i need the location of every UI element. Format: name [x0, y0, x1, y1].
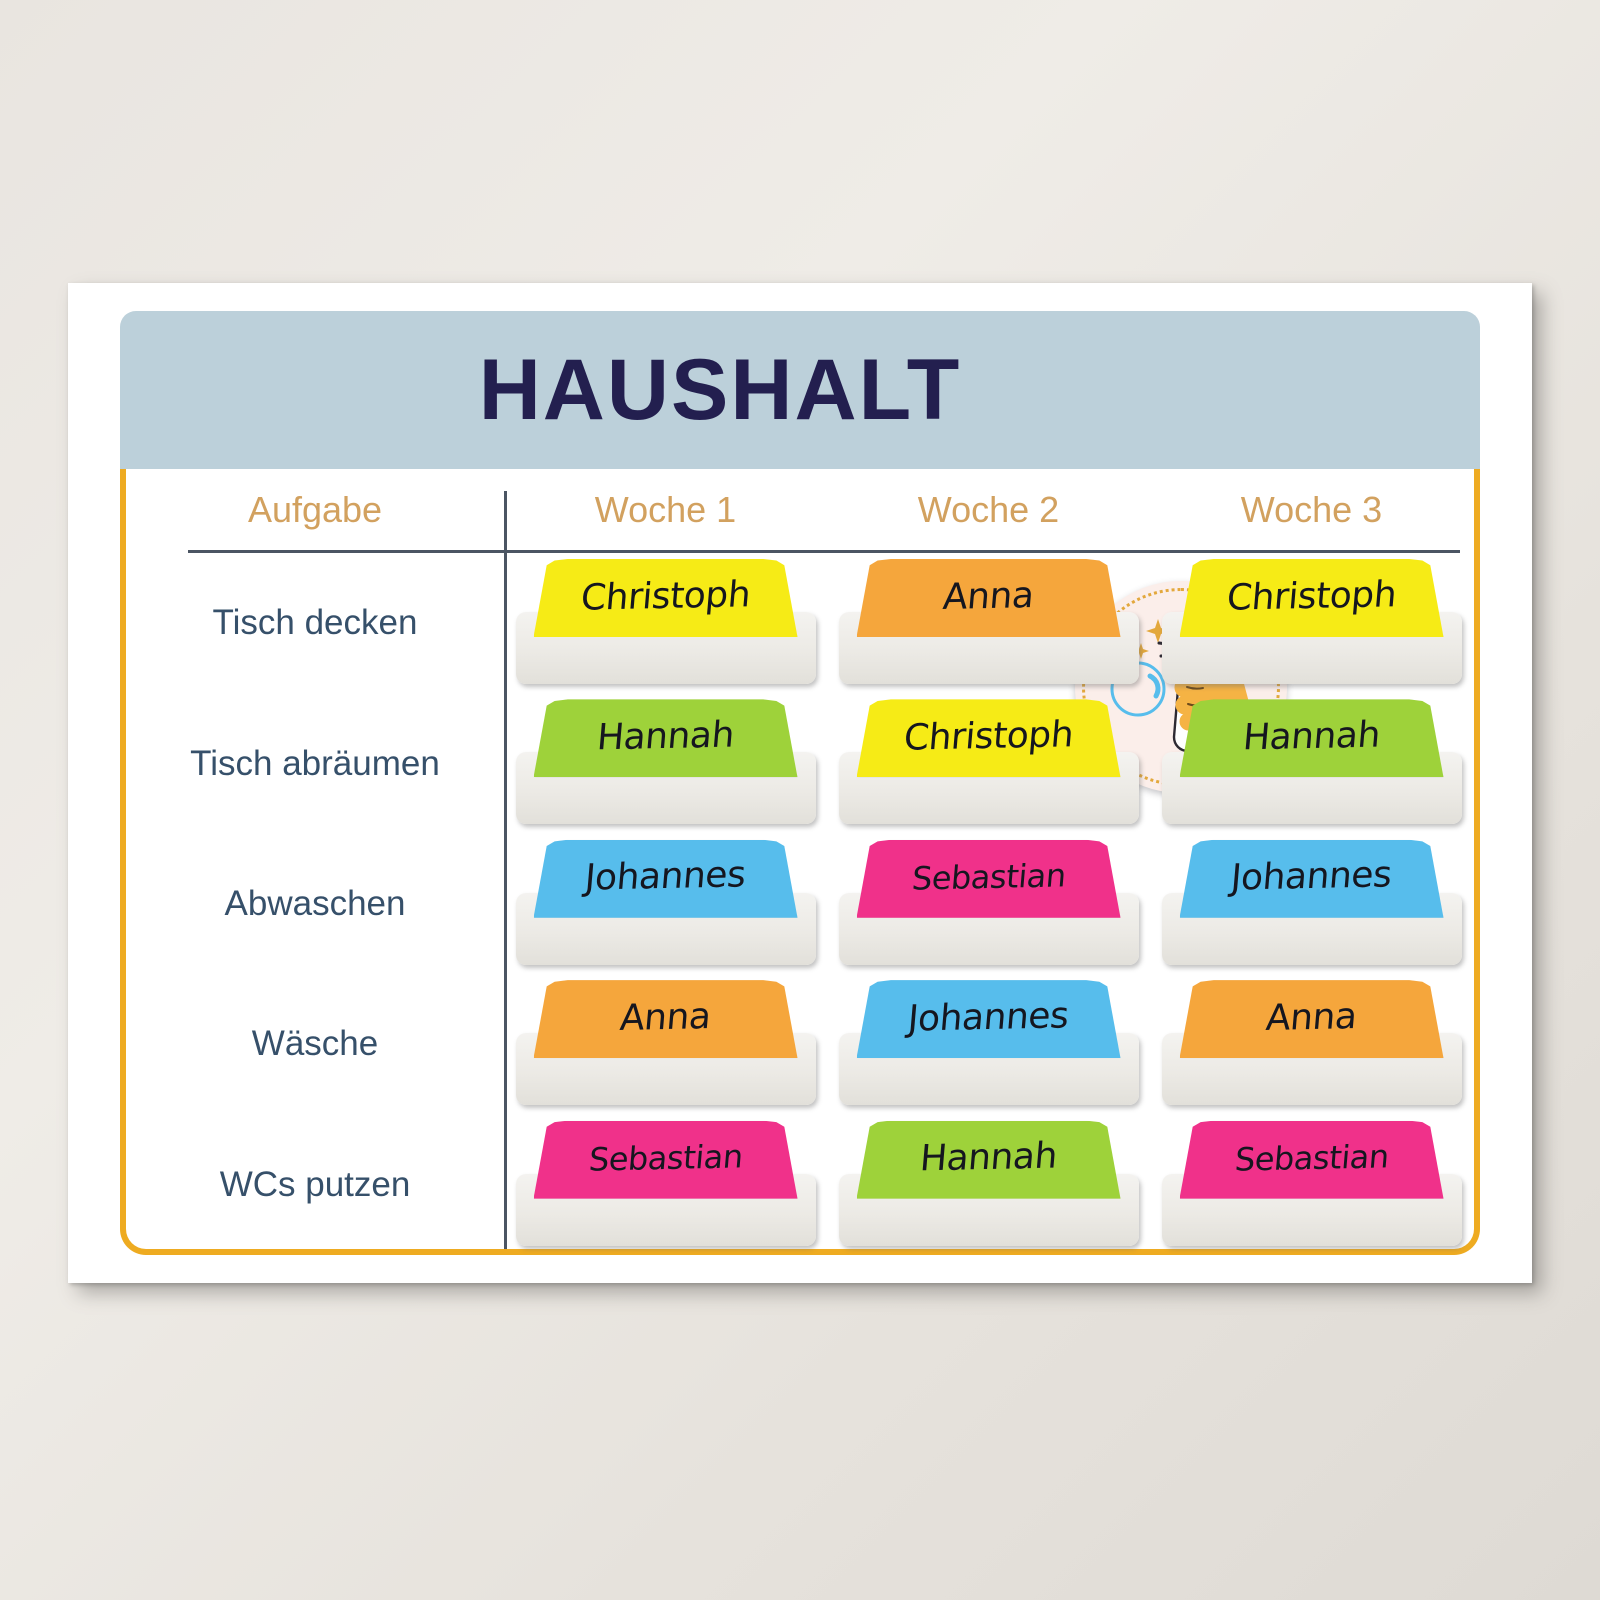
tag-color-strip: Anna: [1180, 980, 1444, 1058]
tag-color-strip: Johannes: [1180, 840, 1444, 918]
name-tag: Christoph: [839, 699, 1139, 827]
tag-cell[interactable]: Hannah: [827, 1115, 1150, 1255]
tag-name-text: Sebastian: [1233, 1137, 1390, 1182]
name-tag: Johannes: [1162, 840, 1462, 968]
tag-name-text: Anna: [941, 575, 1035, 622]
tag-name-text: Johannes: [1229, 855, 1393, 903]
tag-name-text: Johannes: [906, 995, 1070, 1043]
column-header-woche-3: Woche 3: [1150, 469, 1473, 550]
column-header-aufgabe: Aufgabe: [126, 469, 504, 550]
tag-color-strip: Christoph: [534, 559, 798, 637]
table-row: WCs putzen Sebastian Hannah: [126, 1115, 1474, 1255]
tag-cell[interactable]: Christoph: [827, 693, 1150, 833]
tag-name-text: Christoph: [579, 574, 752, 623]
tag-color-strip: Hannah: [857, 1121, 1121, 1199]
tag-color-strip: Sebastian: [857, 840, 1121, 918]
tag-name-text: Sebastian: [910, 856, 1067, 901]
tag-name-text: Christoph: [1225, 574, 1398, 623]
tag-cell[interactable]: Christoph: [1150, 553, 1473, 693]
name-tag: Christoph: [516, 559, 816, 687]
tag-cell[interactable]: Sebastian: [827, 834, 1150, 974]
table-row: Tisch abräumen Hannah Christoph: [126, 693, 1474, 833]
tag-color-strip: Sebastian: [1180, 1121, 1444, 1199]
tag-cell[interactable]: Christoph: [504, 553, 827, 693]
tag-color-strip: Johannes: [857, 980, 1121, 1058]
task-label: WCs putzen: [126, 1165, 504, 1205]
task-label: Tisch decken: [126, 603, 504, 643]
name-tag: Sebastian: [839, 840, 1139, 968]
header-band: HAUSHALT: [120, 311, 1480, 469]
column-header-woche-2: Woche 2: [827, 469, 1150, 550]
tag-cell[interactable]: Sebastian: [504, 1115, 827, 1255]
tag-color-strip: Hannah: [534, 699, 798, 777]
tag-cell[interactable]: Hannah: [1150, 693, 1473, 833]
name-tag: Johannes: [516, 840, 816, 968]
task-label: Tisch abräumen: [126, 744, 504, 784]
page-title: HAUSHALT: [120, 311, 1320, 469]
task-label: Abwaschen: [126, 884, 504, 924]
name-tag: Hannah: [516, 699, 816, 827]
tag-color-strip: Johannes: [534, 840, 798, 918]
name-tag: Anna: [839, 559, 1139, 687]
tag-name-text: Hannah: [918, 1136, 1059, 1184]
tag-color-strip: Hannah: [1180, 699, 1444, 777]
name-tag: Christoph: [1162, 559, 1462, 687]
tag-cell[interactable]: Johannes: [1150, 834, 1473, 974]
tag-name-text: Anna: [1264, 996, 1358, 1043]
tag-color-strip: Sebastian: [534, 1121, 798, 1199]
chore-chart-poster: HAUSHALT: [68, 283, 1532, 1283]
tag-cell[interactable]: Anna: [1150, 974, 1473, 1114]
name-tag: Sebastian: [1162, 1121, 1462, 1249]
tag-name-text: Johannes: [583, 855, 747, 903]
tag-cell[interactable]: Johannes: [827, 974, 1150, 1114]
tag-color-strip: Anna: [534, 980, 798, 1058]
tag-name-text: Hannah: [1241, 714, 1382, 762]
tag-name-text: Sebastian: [587, 1137, 744, 1182]
table-column-headers: Aufgabe Woche 1 Woche 2 Woche 3: [126, 469, 1474, 550]
tag-name-text: Christoph: [902, 714, 1075, 763]
chore-table: Aufgabe Woche 1 Woche 2 Woche 3 Tisch de…: [126, 469, 1474, 1255]
tag-color-strip: Christoph: [1180, 559, 1444, 637]
name-tag: Hannah: [1162, 699, 1462, 827]
table-body: Tisch decken Christoph Anna: [126, 553, 1474, 1255]
table-row: Abwaschen Johannes Sebastian: [126, 834, 1474, 974]
tag-cell[interactable]: Hannah: [504, 693, 827, 833]
table-row: Wäsche Anna Johannes: [126, 974, 1474, 1114]
table-row: Tisch decken Christoph Anna: [126, 553, 1474, 693]
name-tag: Anna: [516, 980, 816, 1108]
name-tag: Hannah: [839, 1121, 1139, 1249]
name-tag: Johannes: [839, 980, 1139, 1108]
task-label: Wäsche: [126, 1024, 504, 1064]
tag-cell[interactable]: Anna: [504, 974, 827, 1114]
tag-color-strip: Christoph: [857, 699, 1121, 777]
name-tag: Anna: [1162, 980, 1462, 1108]
tag-cell[interactable]: Sebastian: [1150, 1115, 1473, 1255]
tag-name-text: Hannah: [595, 714, 736, 762]
column-header-woche-1: Woche 1: [504, 469, 827, 550]
name-tag: Sebastian: [516, 1121, 816, 1249]
tag-color-strip: Anna: [857, 559, 1121, 637]
tag-cell[interactable]: Johannes: [504, 834, 827, 974]
tag-cell[interactable]: Anna: [827, 553, 1150, 693]
tag-name-text: Anna: [618, 996, 712, 1043]
